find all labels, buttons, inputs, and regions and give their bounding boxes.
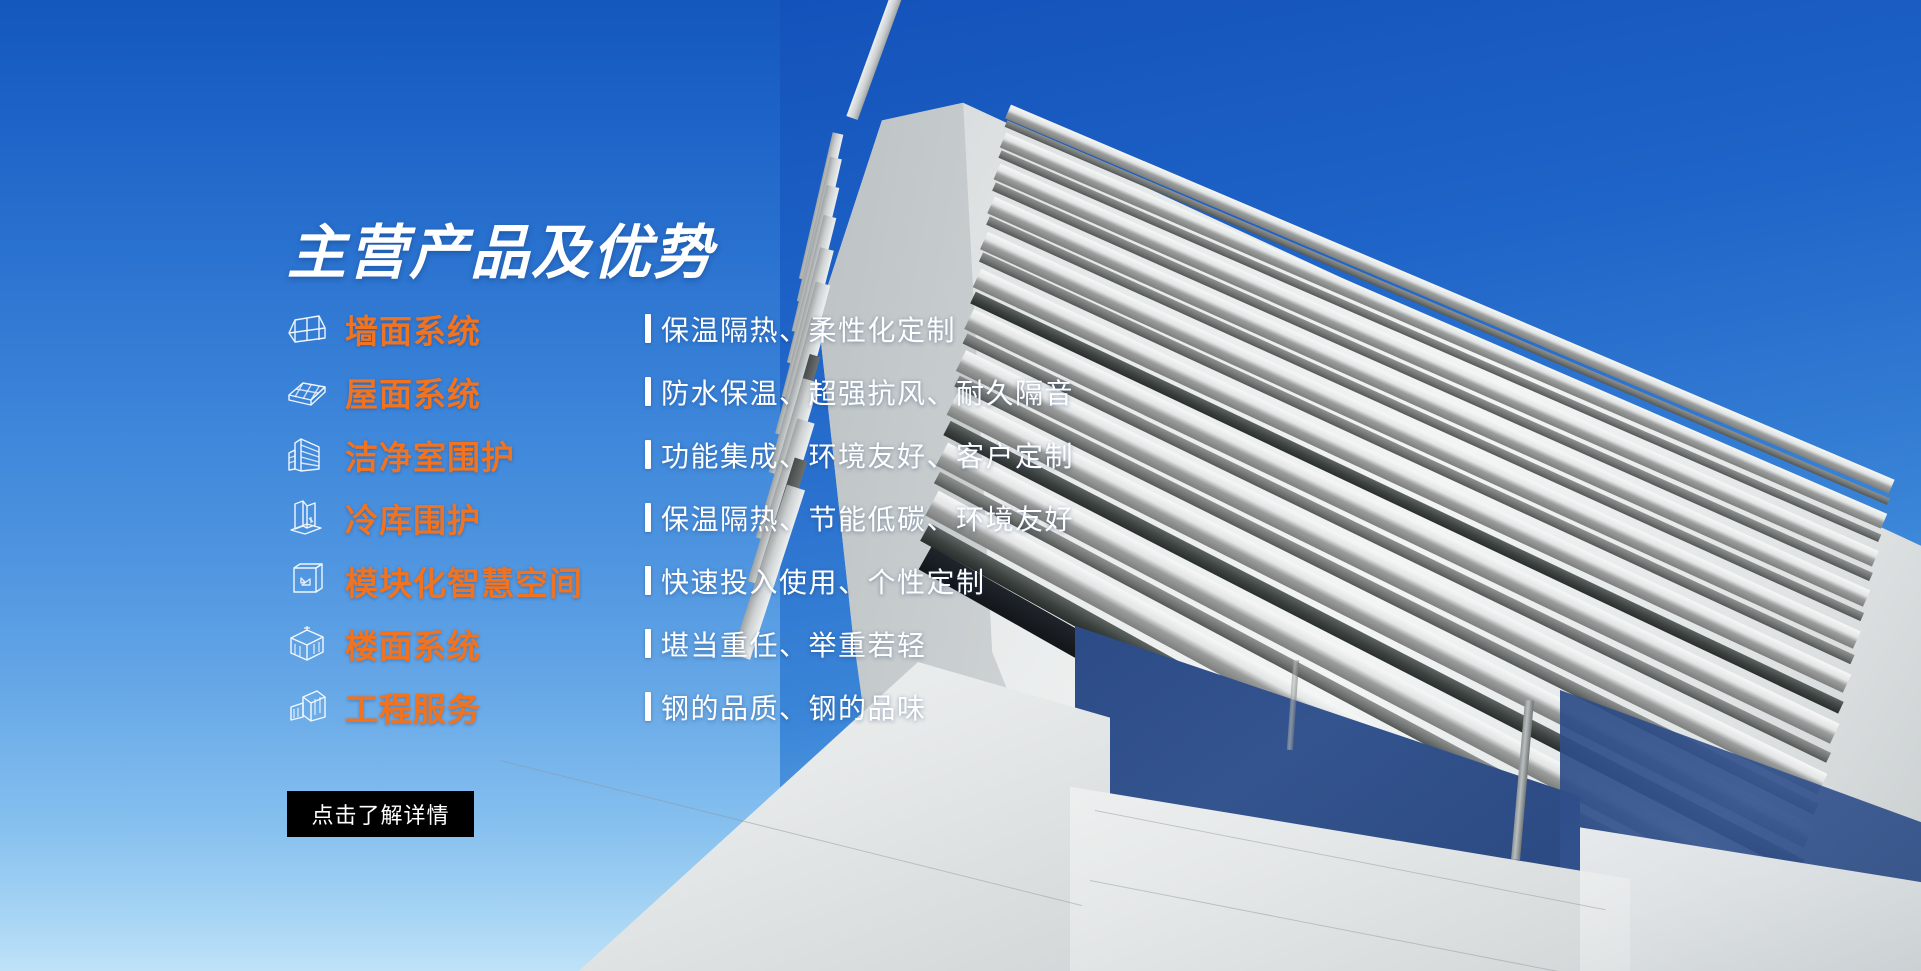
roof-panel-icon <box>285 368 345 416</box>
separator <box>635 692 661 721</box>
product-description: 钢的品质、钢的品味 <box>661 687 927 727</box>
cold-storage-icon <box>285 494 345 542</box>
list-item[interactable]: 洁净室围护 功能集成、环境友好、客户定制 <box>285 423 1074 486</box>
separator <box>635 503 661 532</box>
list-item[interactable]: 楼面系统 堪当重任、举重若轻 <box>285 612 1074 675</box>
product-title: 屋面系统 <box>345 368 635 416</box>
list-item[interactable]: 屋面系统 防水保温、超强抗风、耐久隔音 <box>285 360 1074 423</box>
separator <box>635 314 661 343</box>
product-title: 楼面系统 <box>345 620 635 668</box>
modular-cube-icon <box>285 557 345 605</box>
separator <box>635 629 661 658</box>
product-description: 保温隔热、节能低碳、环境友好 <box>661 498 1074 538</box>
separator <box>635 377 661 406</box>
product-description: 功能集成、环境友好、客户定制 <box>661 435 1074 475</box>
list-item[interactable]: 模块化智慧空间 快速投入使用、个性定制 <box>285 549 1074 612</box>
product-title: 冷库围护 <box>345 494 635 542</box>
list-item[interactable]: 冷库围护 保温隔热、节能低碳、环境友好 <box>285 486 1074 549</box>
cleanroom-building-icon <box>285 431 345 479</box>
hero-banner: 主营产品及优势 墙面系统 保温隔热、柔性化定制 <box>0 0 1921 971</box>
product-description: 保温隔热、柔性化定制 <box>661 309 956 349</box>
product-list: 墙面系统 保温隔热、柔性化定制 屋面系统 <box>285 297 1074 738</box>
hero-content: 主营产品及优势 墙面系统 保温隔热、柔性化定制 <box>0 0 1000 971</box>
product-title: 模块化智慧空间 <box>345 557 635 605</box>
product-description: 防水保温、超强抗风、耐久隔音 <box>661 372 1074 412</box>
list-item[interactable]: 工程服务 钢的品质、钢的品味 <box>285 675 1074 738</box>
product-title: 工程服务 <box>345 683 635 731</box>
floor-deck-icon <box>285 620 345 668</box>
product-title: 墙面系统 <box>345 305 635 353</box>
list-item[interactable]: 墙面系统 保温隔热、柔性化定制 <box>285 297 1074 360</box>
learn-more-button[interactable]: 点击了解详情 <box>287 791 474 837</box>
product-description: 堪当重任、举重若轻 <box>661 624 927 664</box>
product-description: 快速投入使用、个性定制 <box>661 561 986 601</box>
page-title: 主营产品及优势 <box>287 205 714 290</box>
separator <box>635 566 661 595</box>
separator <box>635 440 661 469</box>
engineering-service-icon <box>285 683 345 731</box>
product-title: 洁净室围护 <box>345 431 635 479</box>
wall-frame-icon <box>285 305 345 353</box>
